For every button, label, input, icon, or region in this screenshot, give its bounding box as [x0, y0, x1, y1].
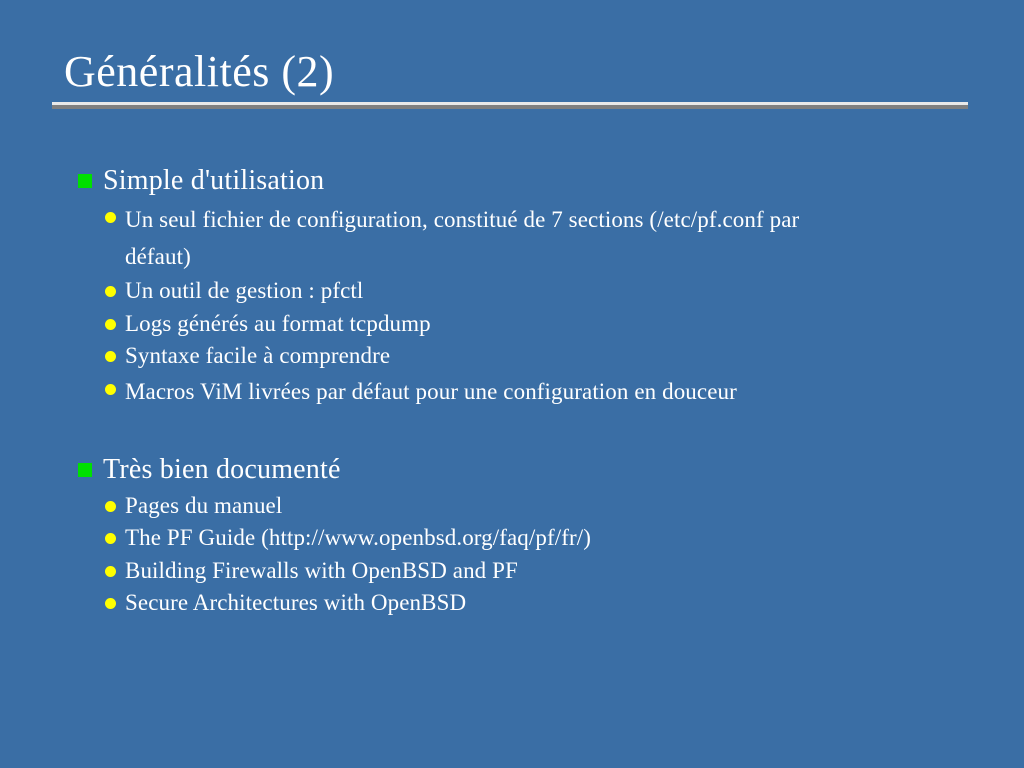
list-item: Secure Architectures with OpenBSD — [105, 587, 978, 620]
list-item-label: Pages du manuel — [125, 490, 282, 523]
list-item-label: The PF Guide (http://www.openbsd.org/faq… — [125, 522, 591, 555]
content-section-simple-utilisation: Simple d'utilisation Un seul fichier de … — [78, 163, 978, 410]
slide-content: Simple d'utilisation Un seul fichier de … — [78, 163, 978, 620]
list-item: Macros ViM livrées par défaut pour une c… — [105, 373, 978, 410]
dot-bullet-icon — [105, 319, 116, 330]
list-item: Building Firewalls with OpenBSD and PF — [105, 555, 978, 588]
list-item-label: Secure Architectures with OpenBSD — [125, 587, 466, 620]
list-item: Un outil de gestion : pfctl — [105, 275, 978, 308]
list-item-label: Building Firewalls with OpenBSD and PF — [125, 555, 518, 588]
dot-bullet-icon — [105, 501, 116, 512]
bullet-level1-item: Simple d'utilisation — [78, 163, 978, 199]
presentation-slide: Généralités (2) Simple d'utilisation Un … — [0, 0, 1024, 768]
title-divider — [52, 102, 968, 109]
list-item-label: Macros ViM livrées par défaut pour une c… — [125, 373, 737, 410]
bullet-level2-list: Pages du manuel The PF Guide (http://www… — [78, 490, 978, 620]
bullet-level1-item: Très bien documenté — [78, 452, 978, 488]
list-item-label: Syntaxe facile à comprendre — [125, 340, 390, 373]
dot-bullet-icon — [105, 566, 116, 577]
dot-bullet-icon — [105, 384, 116, 395]
content-section-tres-bien-documente: Très bien documenté Pages du manuel The … — [78, 452, 978, 620]
bullet-level1-label: Très bien documenté — [103, 452, 341, 488]
dot-bullet-icon — [105, 212, 116, 223]
title-divider-shadow — [52, 105, 968, 109]
square-bullet-icon — [78, 174, 92, 188]
list-item: Logs générés au format tcpdump — [105, 308, 978, 341]
slide-title-block: Généralités (2) — [52, 48, 968, 109]
dot-bullet-icon — [105, 351, 116, 362]
list-item: Un seul fichier de configuration, consti… — [105, 201, 978, 275]
list-item-label: Un outil de gestion : pfctl — [125, 275, 363, 308]
bullet-level2-list: Un seul fichier de configuration, consti… — [78, 201, 978, 410]
bullet-level1-label: Simple d'utilisation — [103, 163, 324, 199]
list-item: Pages du manuel — [105, 490, 978, 523]
list-item-label: Logs générés au format tcpdump — [125, 308, 431, 341]
dot-bullet-icon — [105, 533, 116, 544]
page-title: Généralités (2) — [52, 48, 968, 96]
dot-bullet-icon — [105, 598, 116, 609]
square-bullet-icon — [78, 463, 92, 477]
dot-bullet-icon — [105, 286, 116, 297]
list-item: The PF Guide (http://www.openbsd.org/faq… — [105, 522, 978, 555]
list-item: Syntaxe facile à comprendre — [105, 340, 978, 373]
list-item-label: Un seul fichier de configuration, consti… — [125, 201, 860, 275]
